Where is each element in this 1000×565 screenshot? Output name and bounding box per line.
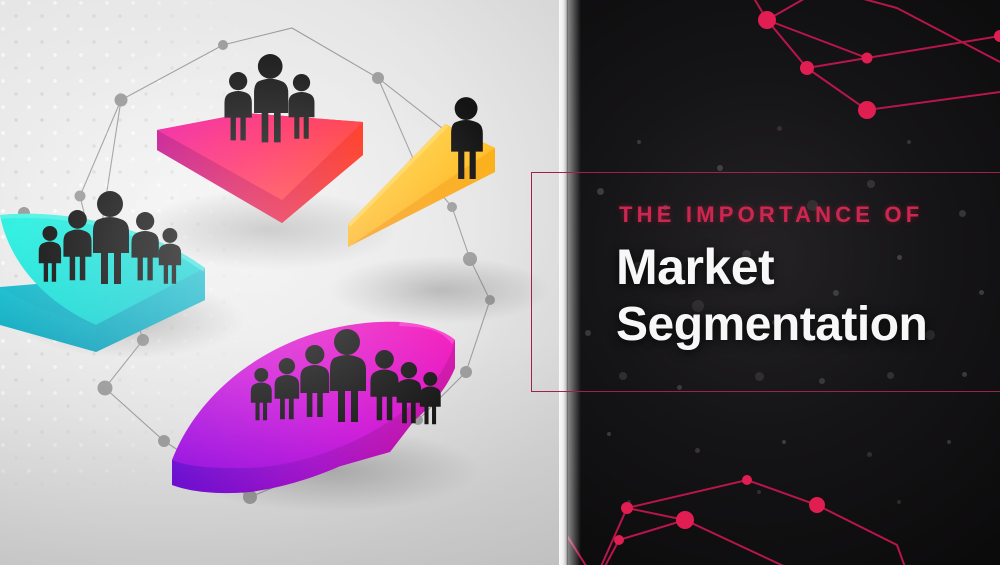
panel-divider [559, 0, 568, 565]
page-title: Market Segmentation [616, 238, 996, 354]
exploded-pie-chart [0, 0, 567, 565]
title-line-1: Market [616, 239, 774, 295]
title-line-2: Segmentation [616, 296, 996, 354]
slide-canvas: THE IMPORTANCE OF Market Segmentation [0, 0, 1000, 565]
network-node-icon [758, 0, 1000, 119]
illustration-panel [0, 0, 567, 565]
kicker-text: THE IMPORTANCE OF [619, 202, 923, 228]
